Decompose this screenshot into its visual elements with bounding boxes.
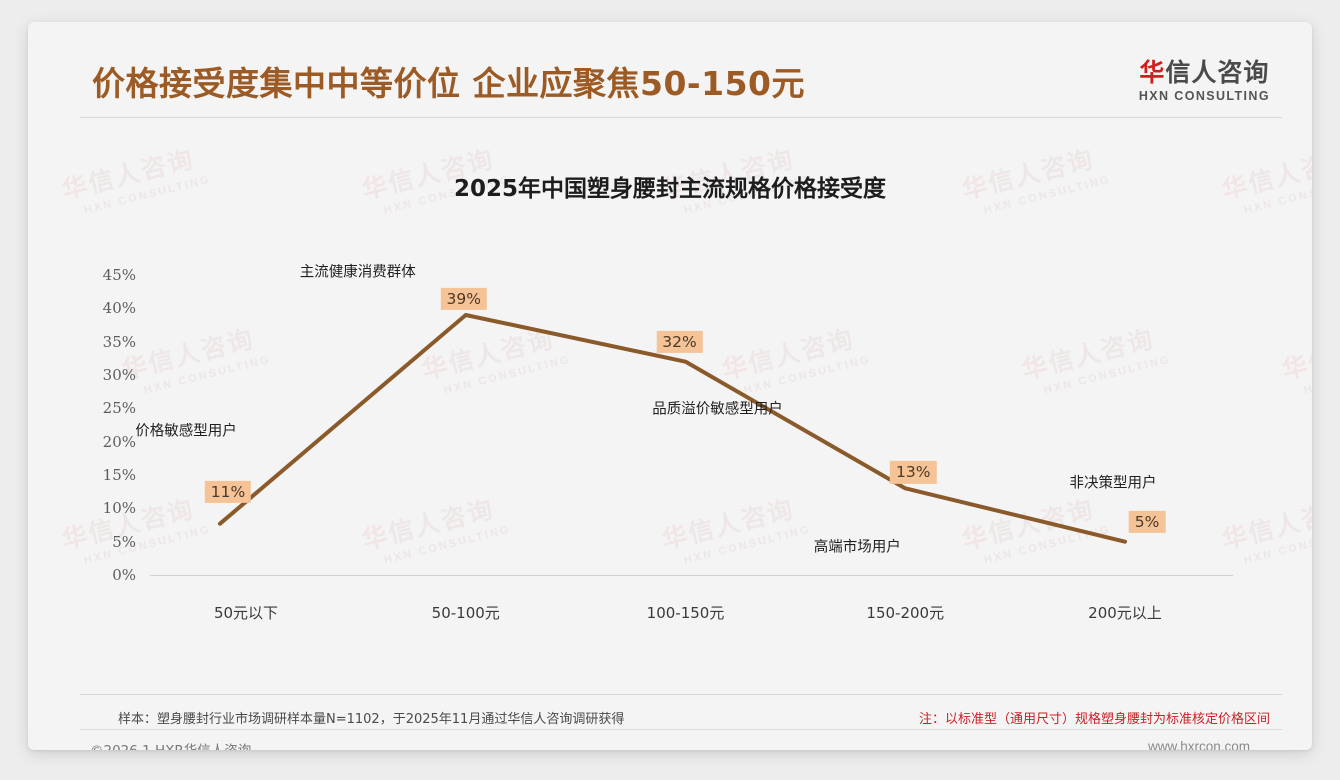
chart-line-series — [28, 22, 1312, 750]
y-axis-tick-label: 15% — [80, 466, 136, 484]
y-axis-tick-label: 30% — [80, 366, 136, 384]
logo-chinese-text: 华信人咨询 — [1139, 60, 1270, 86]
y-axis-tick-label: 25% — [80, 399, 136, 417]
x-axis-tick-label: 50-100元 — [432, 602, 500, 623]
x-axis-tick-label: 150-200元 — [866, 602, 944, 623]
y-axis-tick-label: 5% — [80, 533, 136, 551]
logo-english-text: HXN CONSULTING — [1139, 89, 1270, 103]
y-axis-tick-label: 0% — [80, 566, 136, 584]
slide-card: 华信人咨询HXN CONSULTING华信人咨询HXN CONSULTING华信… — [28, 22, 1312, 750]
chart-title: 2025年中国塑身腰封主流规格价格接受度 — [28, 169, 1312, 203]
y-axis-tick-label: 40% — [80, 299, 136, 317]
data-point-value-label: 5% — [1129, 511, 1166, 533]
copyright-text: ©2026.1 HXR华信人咨询 — [90, 739, 251, 750]
footer-divider-bottom — [80, 729, 1282, 730]
sample-note: 样本：塑身腰封行业市场调研样本量N=1102，于2025年11月通过华信人咨询调… — [118, 708, 624, 727]
slide-header: 价格接受度集中中等价位 企业应聚焦50-150元 华信人咨询 HXN CONSU… — [28, 22, 1312, 118]
brand-logo: 华信人咨询 HXN CONSULTING — [1139, 60, 1270, 103]
line-chart: 0%5%10%15%20%25%30%35%40%45%11%39%32%13%… — [28, 22, 1312, 750]
y-axis-tick-label: 10% — [80, 499, 136, 517]
remark-note: 注：以标准型（通用尺寸）规格塑身腰封为标准核定价格区间 — [919, 708, 1270, 727]
x-axis-tick-label: 200元以上 — [1088, 602, 1162, 623]
y-axis-tick-label: 45% — [80, 266, 136, 284]
x-axis-tick-label: 50元以下 — [214, 602, 278, 623]
footer-divider-top — [80, 694, 1282, 695]
data-point-value-label: 39% — [441, 288, 487, 310]
x-axis-tick-label: 100-150元 — [647, 602, 725, 623]
x-axis-baseline — [150, 575, 1233, 576]
data-point-annotation: 高端市场用户 — [814, 536, 901, 557]
data-point-value-label: 32% — [656, 331, 702, 353]
data-point-annotation: 主流健康消费群体 — [300, 261, 416, 282]
logo-rest-chars: 信人咨询 — [1165, 58, 1269, 87]
data-point-value-label: 13% — [890, 461, 936, 483]
website-link[interactable]: www.hxrcon.com — [1148, 739, 1250, 750]
page-title: 价格接受度集中中等价位 企业应聚焦50-150元 — [92, 57, 805, 105]
data-point-value-label: 11% — [205, 481, 251, 503]
y-axis-tick-label: 20% — [80, 433, 136, 451]
header-divider — [80, 117, 1282, 118]
data-point-annotation: 品质溢价敏感型用户 — [652, 397, 783, 418]
y-axis-tick-label: 35% — [80, 333, 136, 351]
data-point-annotation: 非决策型用户 — [1070, 471, 1157, 492]
data-point-annotation: 价格敏感型用户 — [135, 419, 237, 440]
logo-first-char: 华 — [1139, 58, 1165, 87]
